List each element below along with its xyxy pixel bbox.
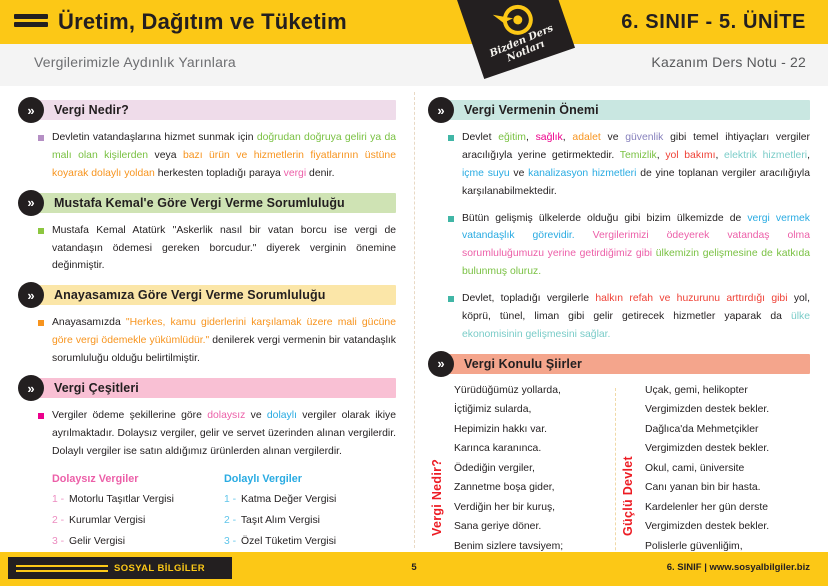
section-paragraph: Bütün gelişmiş ülkelerde olduğu gibi biz… [448,210,810,282]
poem-line: Yürüdüğümüz yollarda, [454,386,613,397]
section-title: Mustafa Kemal'e Göre Vergi Verme Sorumlu… [32,196,345,210]
list-item-number: 2 - [224,515,236,526]
section-vergi-konulu-siirler: »Vergi Konulu Şiirler [428,354,810,374]
list-item-label: Kurumlar Vergisi [66,515,145,526]
poem-line: Karınca karanınca. [454,444,613,455]
chevron-double-right-icon: » [18,375,44,401]
text-run: Anayasamızda [52,317,126,328]
section-title: Vergi Vermenin Önemi [442,103,599,117]
chevron-double-right-icon: » [18,282,44,308]
slogan-text: Vergilerimizle Aydınlık Yarınlara [34,54,236,70]
text-run: eğitim [498,132,526,143]
list-item-number: 1 - [224,494,236,505]
section-mustafa-kemale-gore: »Mustafa Kemal'e Göre Vergi Verme Soruml… [18,193,396,276]
poem-line: Kardelenler her gün derste [645,503,804,514]
text-run: adalet [572,132,600,143]
poem-line: Zannetme boşa gider, [454,483,613,494]
section-title: Vergi Konulu Şiirler [442,357,582,371]
section-paragraph: Mustafa Kemal Atatürk "Askerlik nasıl bi… [38,222,396,276]
poem-line: Vergimizden destek bekler. [645,444,804,455]
text-run: içme suyu [462,168,510,179]
list-item-label: Motorlu Taşıtlar Vergisi [66,494,174,505]
text-run: , [807,150,810,161]
poem-line: Canı yanan bin bir hasta. [645,483,804,494]
text-run: sağlık [536,132,563,143]
poem-line: Hepimizin hakkı var. [454,425,613,436]
tax-list-heading: Dolaysız Vergiler [52,473,224,485]
right-column: »Vergi Vermenin ÖnemiDevlet eğitim, sağl… [414,86,828,552]
chevron-double-right-icon: » [18,190,44,216]
text-run: ve [601,132,626,143]
worksheet-page: Üretim, Dağıtım ve Tüketim 6. SINIF - 5.… [0,0,828,586]
text-run: veya [148,150,183,161]
section-anayasamiza-gore: »Anayasamıza Göre Vergi Verme Sorumluluğ… [18,285,396,368]
list-item: 1 - Motorlu Taşıtlar Vergisi [52,494,224,505]
poem-line: Verdiğin her bir kuruş, [454,503,613,514]
section-vergi-cesitleri: »Vergi ÇeşitleriVergiler ödeme şekilleri… [18,378,396,461]
footer-site-label: 6. SINIF | www.sosyalbilgiler.biz [667,562,810,573]
section-header-vergi-vermenin-onemi: »Vergi Vermenin Önemi [442,100,810,120]
list-item-number: 3 - [52,536,64,547]
text-run: Devletin vatandaşlarına hizmet sunmak iç… [52,132,257,143]
left-column: »Vergi Nedir?Devletin vatandaşlarına hiz… [0,86,414,552]
list-item-label: Özel Tüketim Vergisi [238,536,336,547]
section-paragraph: Devlet, topladığı vergilerle halkın refa… [448,290,810,344]
list-item-number: 2 - [52,515,64,526]
text-run: herkesten topladığı paraya [155,168,284,179]
text-run: güvenlik [625,132,663,143]
text-run: dolaylı [267,410,297,421]
list-item-number: 3 - [224,536,236,547]
poem-line: Sana geriye döner. [454,522,613,533]
menu-bars-icon [14,14,48,30]
text-run: kanalizasyon hizmetleri [528,168,636,179]
text-run: ve [245,410,267,421]
poem-line: Uçak, gemi, helikopter [645,386,804,397]
content-columns: »Vergi Nedir?Devletin vatandaşlarına hiz… [0,86,828,552]
section-title: Vergi Çeşitleri [32,381,139,395]
section-header-anayasamiza-gore: »Anayasamıza Göre Vergi Verme Sorumluluğ… [32,285,396,305]
text-run: Bütün gelişmiş ülkelerde olduğu gibi biz… [462,213,747,224]
chevron-double-right-icon: » [18,97,44,123]
text-run: ve [510,168,528,179]
section-paragraph: Devletin vatandaşlarına hizmet sunmak iç… [38,129,396,183]
section-header-vergi-konulu-siirler: »Vergi Konulu Şiirler [442,354,810,374]
chevron-double-right-icon: » [428,351,454,377]
lesson-note-label: Kazanım Ders Notu - 22 [651,54,806,70]
section-paragraph: Anayasamızda "Herkes, kamu giderlerini k… [38,314,396,368]
poem-line: Vergimizden destek bekler. [645,405,804,416]
list-item-label: Katma Değer Vergisi [238,494,336,505]
section-paragraph: Devlet eğitim, sağlık, adalet ve güvenli… [448,129,810,201]
poem-title: Güçlü Devlet [621,386,637,536]
list-item: 2 - Taşıt Alım Vergisi [224,515,396,526]
text-run: vergi [284,168,307,179]
section-header-mustafa-kemale-gore: »Mustafa Kemal'e Göre Vergi Verme Soruml… [32,193,396,213]
section-vergi-nedir: »Vergi Nedir?Devletin vatandaşlarına hiz… [18,100,396,183]
text-run [575,230,593,241]
list-item: 2 - Kurumlar Vergisi [52,515,224,526]
footer-band: SOSYAL BİLGİLER 5 6. SINIF | www.sosyalb… [0,552,828,586]
text-run: dolaysız [207,410,245,421]
text-run: Mustafa Kemal Atatürk "Askerlik nasıl bi… [52,225,396,272]
text-run: denir. [306,168,334,179]
text-run: , [715,150,724,161]
poem-line: Dağlıca'da Mehmetçikler [645,425,804,436]
section-header-vergi-nedir: »Vergi Nedir? [32,100,396,120]
text-run: halkın refah ve huzurunu arttırdığı gibi [595,293,787,304]
list-item: 3 - Gelir Vergisi [52,536,224,547]
text-run: yol bakımı [665,150,715,161]
section-title: Anayasamıza Göre Vergi Verme Sorumluluğu [32,288,325,302]
list-item-label: Gelir Vergisi [66,536,125,547]
text-run: Temizlik [620,150,657,161]
section-vergi-vermenin-onemi: »Vergi Vermenin ÖnemiDevlet eğitim, sağl… [428,100,810,344]
list-item-number: 1 - [52,494,64,505]
poem-line: Vergimizden destek bekler. [645,522,804,533]
tax-list-heading: Dolaylı Vergiler [224,473,396,485]
section-header-vergi-cesitleri: »Vergi Çeşitleri [32,378,396,398]
text-run: , [563,132,573,143]
list-item-label: Taşıt Alım Vergisi [238,515,320,526]
list-item: 3 - Özel Tüketim Vergisi [224,536,396,547]
unit-label: 6. SINIF - 5. ÜNİTE [621,11,806,34]
chevron-double-right-icon: » [428,97,454,123]
text-run: , [526,132,536,143]
text-run: Devlet [462,132,498,143]
text-run: Devlet, topladığı vergilerle [462,293,595,304]
page-title: Üretim, Dağıtım ve Tüketim [58,9,347,35]
list-item: 1 - Katma Değer Vergisi [224,494,396,505]
section-paragraph: Vergiler ödeme şekillerine göre dolaysız… [38,407,396,461]
poem-line: Ödediğin vergiler, [454,464,613,475]
text-run: elektrik hizmetleri [724,150,807,161]
poem-title: Vergi Nedir? [430,386,446,536]
text-run: Vergiler ödeme şekillerine göre [52,410,207,421]
section-title: Vergi Nedir? [32,103,129,117]
poem-line: İçtiğimiz sularda, [454,405,613,416]
poem-line: Okul, cami, üniversite [645,464,804,475]
